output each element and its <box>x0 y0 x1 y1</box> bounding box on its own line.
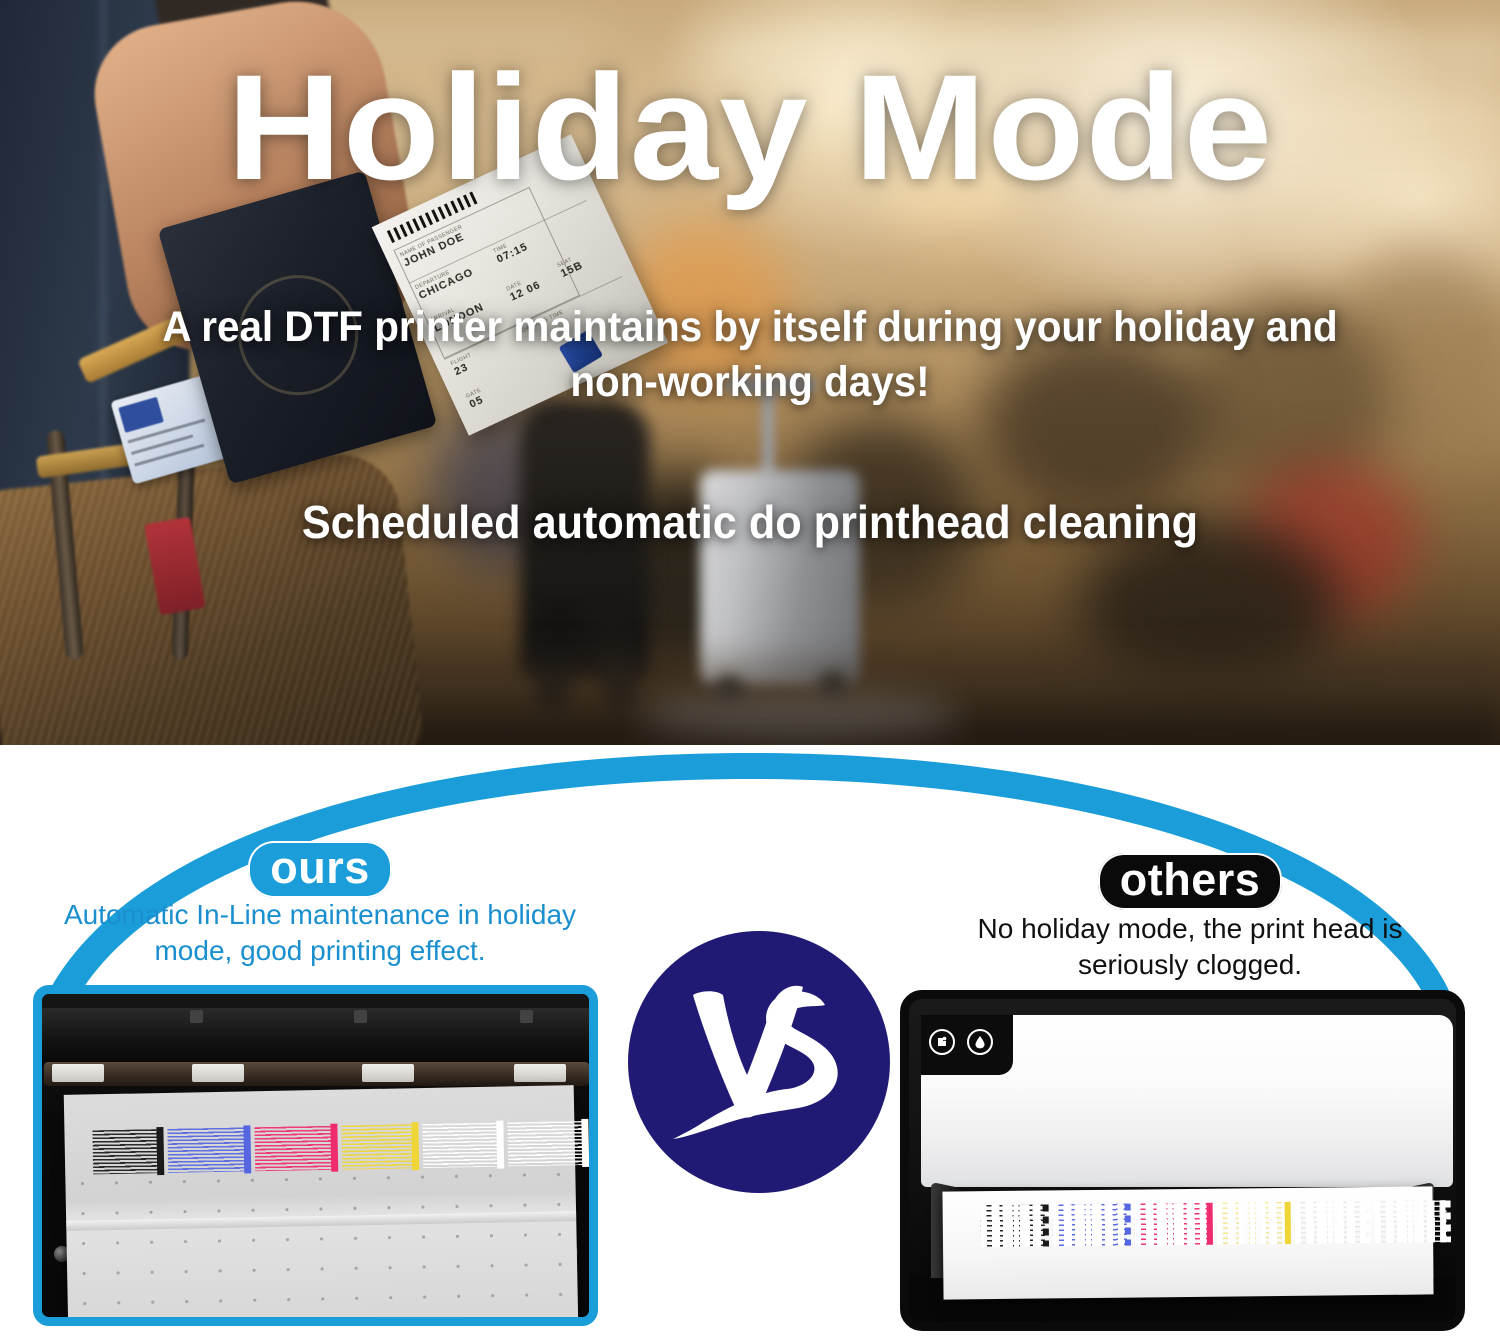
page-title: Holiday Mode <box>0 52 1500 202</box>
nozzle-block-black <box>981 1204 1045 1247</box>
nozzle-block-black <box>92 1129 159 1174</box>
nozzle-check-clogged <box>981 1200 1447 1247</box>
nozzle-edge-bar <box>1285 1202 1291 1244</box>
comparison-section: ours Automatic In-Line maintenance in ho… <box>0 745 1500 1337</box>
nozzle-edge-bar <box>1043 1204 1049 1246</box>
vs-icon <box>669 977 849 1147</box>
nozzle-block-blue <box>167 1127 246 1172</box>
nozzle-edge-bar <box>243 1125 251 1173</box>
nozzle-gap-mask <box>1295 1201 1367 1244</box>
nozzle-block-white-2 <box>507 1121 584 1166</box>
nozzle-gap-mask <box>981 1204 1045 1247</box>
nozzle-lines <box>422 1123 499 1168</box>
hero-tagline: Scheduled automatic do printhead cleanin… <box>83 495 1418 550</box>
roller-segment <box>362 1064 414 1082</box>
nozzle-gap-mask <box>1135 1203 1209 1246</box>
printer-lid <box>921 1015 1453 1187</box>
printer-roller <box>44 1062 589 1086</box>
nozzle-edge-bar <box>581 1119 589 1167</box>
roller-segment <box>514 1064 566 1082</box>
nozzle-edge-bar <box>1365 1201 1371 1243</box>
nozzle-lines <box>167 1127 246 1172</box>
others-description: No holiday mode, the print head is serio… <box>920 911 1460 983</box>
printer-control-panel <box>921 1015 1013 1075</box>
nozzle-block-white-2 <box>1375 1200 1447 1243</box>
nozzle-lines <box>341 1124 414 1169</box>
rail-marker <box>354 1010 367 1023</box>
hero-banner: BOARDING PASS NAME OF PASSENGER JOHN DOE… <box>0 0 1500 745</box>
nozzle-block-white-1 <box>422 1123 499 1168</box>
hero-text-overlay: Holiday Mode A real DTF printer maintain… <box>0 0 1500 745</box>
hero-subtitle: A real DTF printer maintains by itself d… <box>158 300 1342 410</box>
nozzle-lines <box>507 1121 584 1166</box>
versus-badge <box>628 931 890 1193</box>
sheet-dot-grid <box>65 1159 578 1326</box>
infographic-page: BOARDING PASS NAME OF PASSENGER JOHN DOE… <box>0 0 1500 1337</box>
nozzle-edge-bar <box>1445 1200 1451 1242</box>
printer-top-rail <box>42 1008 589 1066</box>
nozzle-block-yellow <box>1217 1202 1287 1245</box>
nozzle-block-white-1 <box>1295 1201 1367 1244</box>
rail-marker <box>190 1010 203 1023</box>
nozzle-gap-mask <box>1053 1204 1127 1247</box>
rail-marker <box>520 1010 533 1023</box>
nozzle-check-clean <box>92 1121 584 1174</box>
others-printer-photo <box>900 990 1465 1331</box>
ours-description: Automatic In-Line maintenance in holiday… <box>60 897 580 969</box>
ours-printer-photo <box>33 985 598 1326</box>
nozzle-block-magenta <box>1135 1203 1209 1246</box>
nozzle-block-magenta <box>254 1126 333 1171</box>
others-badge: others <box>1098 853 1283 910</box>
roller-segment <box>52 1064 104 1082</box>
nozzle-block-yellow <box>341 1124 414 1169</box>
ours-badge: ours <box>248 841 392 898</box>
ours-badge-wrap: ours <box>0 841 640 898</box>
nozzle-edge-bar <box>1125 1204 1131 1246</box>
printed-test-sheet <box>64 1085 579 1326</box>
roller-segment <box>192 1064 244 1082</box>
nozzle-edge-bar <box>1207 1203 1213 1245</box>
printed-test-sheet <box>942 1186 1433 1299</box>
nozzle-gap-mask <box>1217 1202 1287 1245</box>
nozzle-edge-bar <box>411 1122 419 1170</box>
nozzle-gap-mask <box>1375 1200 1447 1243</box>
nozzle-lines <box>92 1129 159 1174</box>
nozzle-block-blue <box>1053 1204 1127 1247</box>
nozzle-edge-bar <box>330 1124 338 1172</box>
nozzle-edge-bar <box>496 1120 504 1168</box>
paper-icon <box>929 1029 955 1055</box>
ink-drop-icon <box>967 1029 993 1055</box>
others-badge-wrap: others <box>880 853 1500 910</box>
nozzle-lines <box>254 1126 333 1171</box>
nozzle-edge-bar <box>156 1127 164 1175</box>
